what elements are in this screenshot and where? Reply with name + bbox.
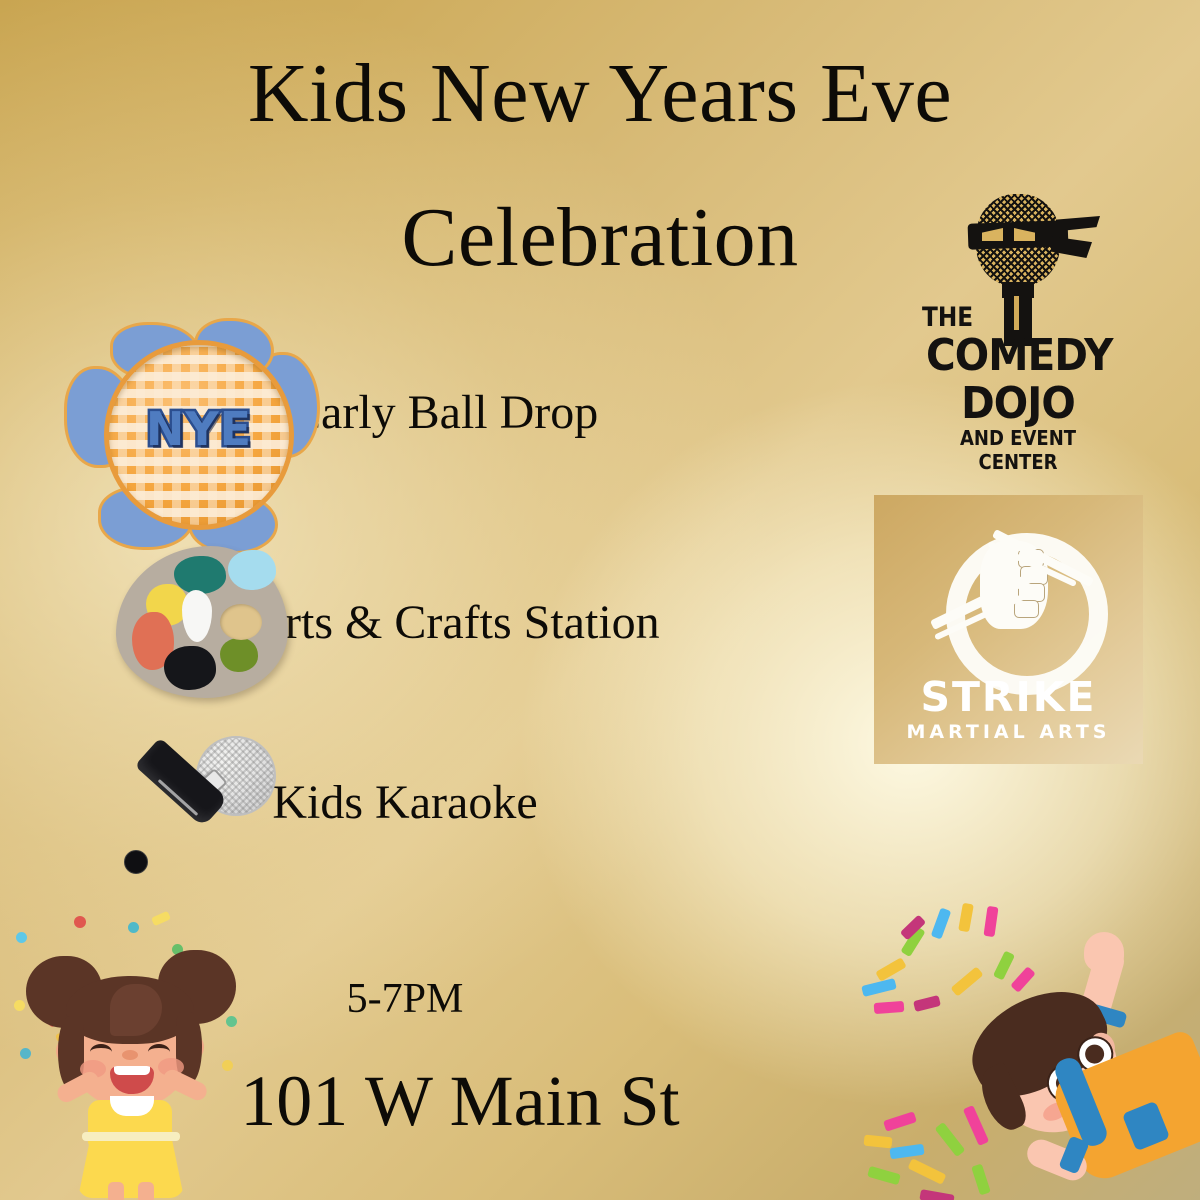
girl-leg-left [108,1182,124,1200]
page-title-line-1: Kids New Years Eve [0,52,1200,136]
comedy-dojo-logo: THE COMEDY DOJO AND EVENT CENTER [918,190,1118,458]
paint-blob-olive [220,638,258,672]
confetti-dot [20,1048,31,1059]
confetti-dot [74,916,86,928]
palette-thumb-hole [220,604,262,640]
confetti-dot [14,1000,25,1011]
confetti-dot [128,922,139,933]
microphone-icon [118,726,288,891]
confetti-streamer [983,906,998,937]
confetti-dot [16,932,27,943]
boy-character-illustration [960,930,1200,1200]
confetti-streamer [931,908,952,940]
confetti-streamer [874,1001,905,1014]
girl-skirt [78,1136,184,1198]
confetti-streamer [919,1189,954,1200]
confetti-streamer [971,1164,991,1196]
paint-blob-black [164,646,216,690]
confetti-dot [222,1060,233,1071]
dojo-the-label: THE [922,302,973,333]
confetti-streamer [993,951,1015,981]
boy-hand [1084,932,1124,972]
girl-nose [122,1050,138,1060]
nye-label: NYE [104,402,294,456]
confetti-streamer [1010,966,1036,993]
confetti-dot [226,1016,237,1027]
confetti-streamer [867,1166,901,1185]
confetti-bar [151,911,171,927]
paint-blob-lightblue [228,550,276,590]
confetti-streamer [861,978,897,997]
girl-character-illustration [12,920,262,1200]
paint-palette-icon [116,546,288,698]
confetti-streamer [935,1122,966,1157]
dojo-comedy-label: COMEDY [926,330,1110,381]
fist-lightning-icon [930,519,1088,669]
strike-lightning-bolt [924,531,1100,661]
dojo-dojo-label: DOJO [926,378,1110,429]
strike-subtitle-label: MARTIAL ARTS [874,721,1143,743]
strike-martial-arts-logo: STRIKE MARTIAL ARTS [874,495,1143,764]
nye-ball-wrapper: NYE [104,340,294,530]
confetti-streamer [908,1158,947,1185]
event-flyer: Kids New Years Eve Celebration Early Bal… [0,0,1200,1200]
confetti-streamer [864,1135,893,1149]
strike-name-label: STRIKE [874,673,1143,721]
dojo-subtitle-label: AND EVENT CENTER [928,426,1108,474]
girl-dress-belt [82,1132,180,1141]
girl-leg-right [138,1182,154,1200]
dojo-mic-stem-gap [1014,296,1019,330]
confetti-streamer [950,966,983,996]
girl-eye-left [90,1044,112,1060]
confetti-streamer [963,1105,989,1146]
confetti-streamer [889,1144,924,1160]
confetti-streamer [958,903,974,932]
microphone-end-cap [124,850,148,874]
confetti-streamer [913,995,941,1012]
nye-disco-ball-badge: NYE [62,318,314,556]
